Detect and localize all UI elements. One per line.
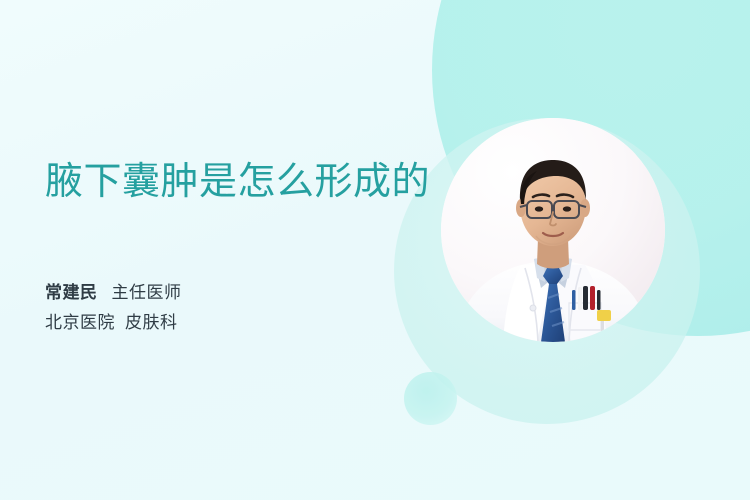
doctor-title: 主任医师 [112, 283, 182, 302]
byline-row-affiliation: 北京医院皮肤科 [45, 308, 182, 338]
department-name: 皮肤科 [125, 313, 178, 332]
doctor-byline: 常建民主任医师 北京医院皮肤科 [45, 278, 182, 338]
hospital-name: 北京医院 [45, 313, 115, 332]
byline-row-name: 常建民主任医师 [45, 278, 182, 308]
doctor-portrait-circle [441, 118, 665, 342]
doctor-name: 常建民 [45, 283, 98, 302]
decorative-circle-small [404, 372, 457, 425]
page-title: 腋下囊肿是怎么形成的 [45, 159, 430, 205]
doctor-portrait-image [441, 118, 665, 342]
slide-canvas: 腋下囊肿是怎么形成的 常建民主任医师 北京医院皮肤科 [0, 0, 750, 500]
